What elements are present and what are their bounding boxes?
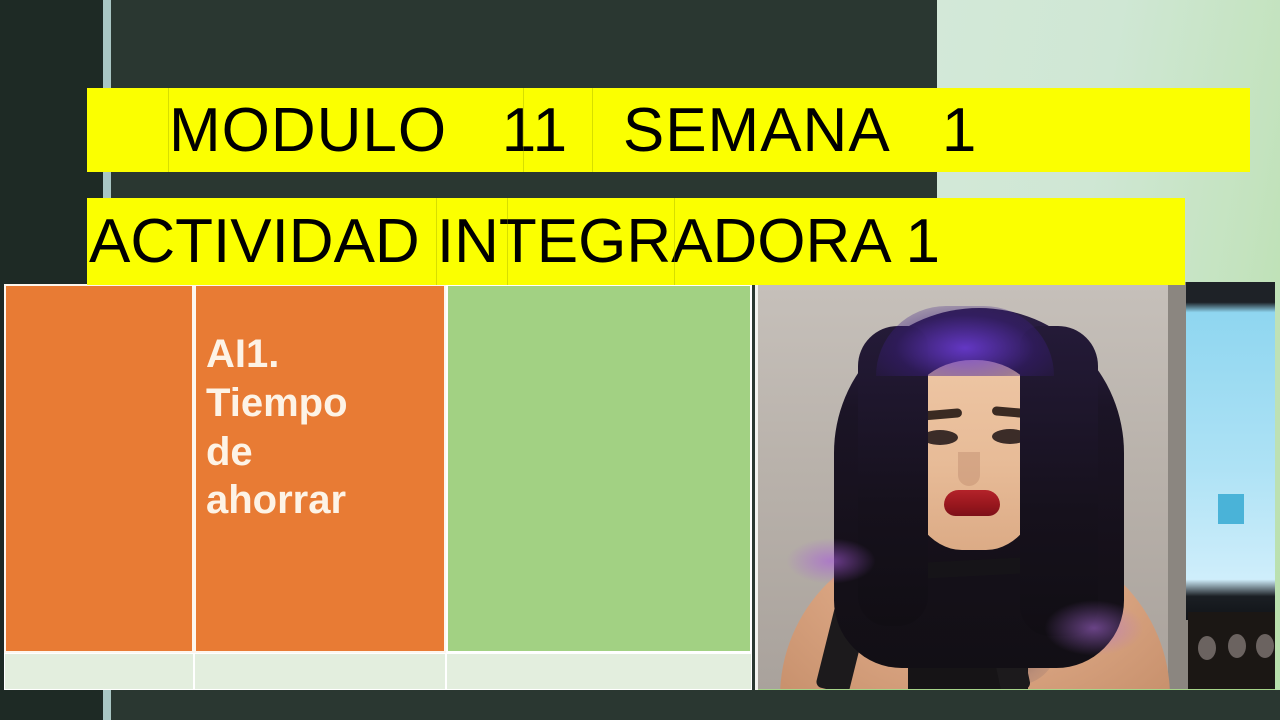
slide-orange-right-cell: AI1. Tiempo de ahorrar [194,284,446,653]
slide-pale-bottom-row [4,653,752,690]
presenter-lips [944,490,1000,516]
photo-bottom-edge [758,689,1275,690]
presenter-figure [758,282,1188,690]
title-banner-secondary: ACTIVIDAD INTEGRADORA 1 [87,198,1185,285]
screenshot-canvas: AI1. Tiempo de ahorrar [0,0,1280,720]
banner1-divider-2 [523,88,524,172]
banner2-divider-1 [436,198,437,285]
pale-row-divider-1 [193,654,195,689]
studio-lamp-2 [1228,634,1246,658]
title-banner-secondary-text: ACTIVIDAD INTEGRADORA 1 [89,206,940,277]
studio-lamp-1 [1198,636,1216,660]
slide-green-cell [446,284,752,653]
title-banner-primary: MODULO 11 SEMANA 1 [87,88,1250,172]
studio-screen-marker [1218,494,1244,524]
banner1-divider-3 [592,88,593,172]
banner1-divider-1 [168,88,169,172]
studio-display-screen [1186,282,1275,620]
background-bottom-strip [0,690,1280,720]
title-banner-primary-text: MODULO 11 SEMANA 1 [169,95,977,166]
stage-light-flare-left [786,538,876,584]
studio-lamp-3 [1256,634,1274,658]
slide-content-title: AI1. Tiempo de ahorrar [206,330,444,525]
slide-orange-left-cell [4,284,194,653]
banner2-divider-2 [507,198,508,285]
banner2-divider-3 [674,198,675,285]
presenter-nose [958,452,980,486]
pale-row-divider-2 [445,654,447,689]
presenter-photo [755,282,1275,690]
stage-light-flare-right [1044,600,1144,656]
background-bottom-left-strip [0,690,103,720]
